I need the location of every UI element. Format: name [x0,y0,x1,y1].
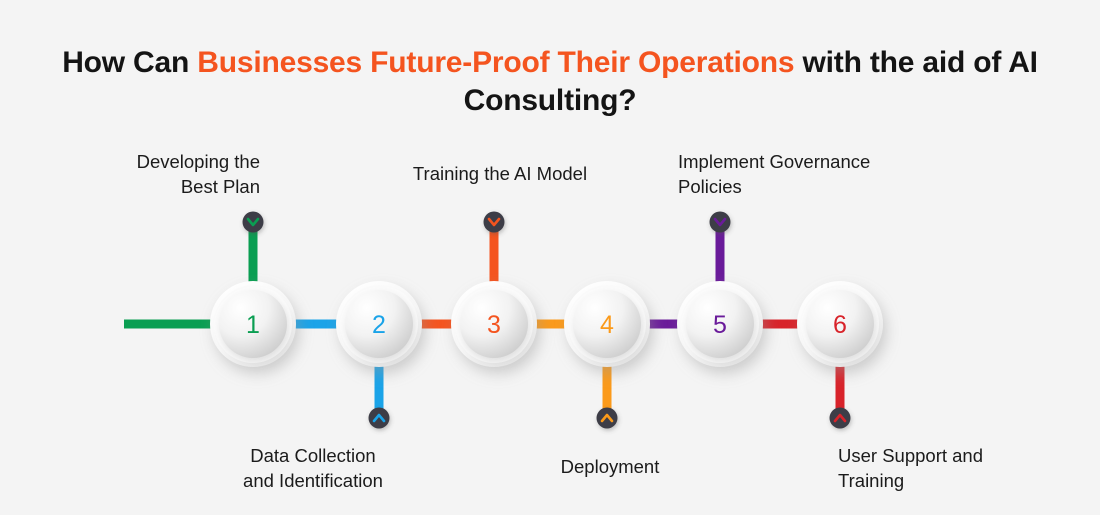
step-label-1: Developing the Best Plan [55,150,260,199]
marker-step-1 [243,212,264,233]
step-label-6: User Support and Training [838,444,1053,493]
step-number-4: 4 [600,311,614,339]
infographic-canvas: How Can Businesses Future-Proof Their Op… [0,0,1100,515]
step-node-1[interactable]: 1 [210,281,296,367]
marker-step-4 [597,408,618,429]
step-number-3: 3 [487,311,501,339]
step-number-2: 2 [372,311,386,339]
timeline-graphic: 123456 [0,0,1100,515]
marker-step-6 [830,408,851,429]
step-node-2[interactable]: 2 [336,281,422,367]
marker-step-2 [369,408,390,429]
step-label-3: Training the AI Model [380,162,620,187]
step-node-3[interactable]: 3 [451,281,537,367]
step-node-5[interactable]: 5 [677,281,763,367]
step-label-4: Deployment [520,455,700,480]
step-label-2: Data Collection and Identification [205,444,421,493]
step-node-4[interactable]: 4 [564,281,650,367]
marker-step-3 [484,212,505,233]
marker-step-5 [710,212,731,233]
step-node-6[interactable]: 6 [797,281,883,367]
step-number-6: 6 [833,311,847,339]
step-number-1: 1 [246,311,260,339]
step-number-5: 5 [713,311,727,339]
step-label-5: Implement Governance Policies [678,150,968,199]
